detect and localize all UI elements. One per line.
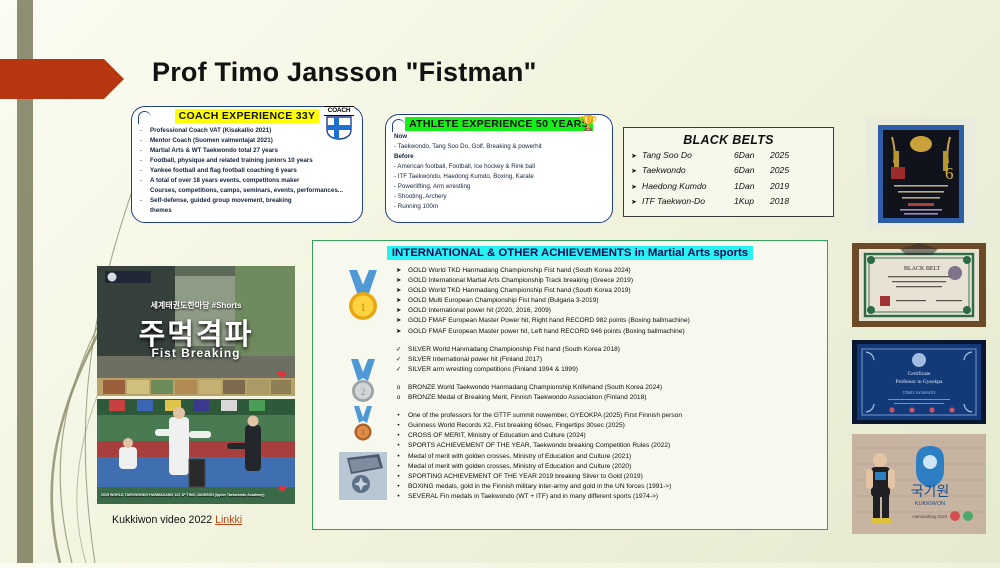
table-row: ➤ Haedong Kumdo 1Dan 2019 (624, 180, 833, 194)
group-spacer (395, 337, 821, 345)
table-row: ➤ Tang Soo Do 6Dan 2025 (624, 149, 833, 163)
list-item: ➤GOLD World TKD Hanmadang Championship F… (395, 286, 821, 296)
athlete-experience-list: Now - Taekwondo, Tang Soo Do, Golf, Brea… (394, 132, 606, 212)
achievements-list: ➤GOLD World TKD Hanmadang Championship F… (395, 266, 821, 502)
kukkiwon-overlay-caption: 2015 WORLD TAEKWONDO HANMADANG 122 1P TI… (101, 493, 265, 498)
list-item: - Shooting, Archery (394, 192, 606, 202)
list-item-continuation: themes (140, 206, 356, 216)
list-item: •CROSS OF MERIT, Ministry of Education a… (395, 431, 821, 441)
gym-caption: Hanmadang 2024 (913, 514, 948, 519)
list-item: oBRONZE Medal of Breaking Merit, Finnish… (395, 393, 821, 403)
black-belts-title: BLACK BELTS (624, 133, 833, 147)
coach-experience-box: COACH EXPERIENCE 33Y COACH -Professional… (131, 106, 363, 223)
heart-icon: ❤ (277, 368, 287, 382)
table-row: ➤ ITF Taekwon-Do 1Kup 2018 (624, 195, 833, 209)
kukkiwon-breaking-photo[interactable]: 2015 WORLD TAEKWONDO HANMADANG 122 1P TI… (97, 399, 295, 504)
list-item: ✓SILVER arm wrestling competitions (Finl… (395, 365, 821, 375)
list-item: - American football, Football, Ice hocke… (394, 162, 606, 172)
decorative-arrow-banner (0, 59, 124, 99)
video-thumb-subtitle: 세계태권도한마당 #Shorts (97, 300, 295, 311)
cert-line1: Certificate (908, 370, 931, 377)
list-item: - ITF Taekwondo, Haedong Kumdo, Boxing, … (394, 172, 606, 182)
black-belts-box: BLACK BELTS ➤ Tang Soo Do 6Dan 2025 ➤ Ta… (623, 127, 834, 217)
arrow-bullet-icon: ➤ (624, 166, 642, 178)
list-item: oBRONZE World Taekwondo Hanmadang Champi… (395, 383, 821, 393)
group-spacer (395, 375, 821, 383)
list-item: -Football, physique and related training… (140, 156, 356, 166)
list-item: •SPORTS ACHIEVEMENT OF THE YEAR, Taekwon… (395, 441, 821, 451)
list-item: ➤GOLD International Martial Arts Champio… (395, 276, 821, 286)
plaque-badge-number: 6 (945, 164, 954, 183)
list-item: -Martial Arts & WT Taekwondo total 27 ye… (140, 146, 356, 156)
list-item: ➤GOLD Multi European Championship Fist h… (395, 296, 821, 306)
list-item: •Medal of merit with golden crosses, Min… (395, 462, 821, 472)
before-label: Before (394, 152, 606, 162)
list-item-continuation: Courses, competitions, camps, seminars, … (140, 186, 356, 196)
list-item: -Mentor Coach (Suomen valmentajat 2021) (140, 136, 356, 146)
black-belt-certificate-photo: BLACK BELT (852, 243, 986, 327)
korean-award-plaque-photo: 6 (866, 117, 976, 230)
list-item: •BOXING medals, gold in the Finnish mili… (395, 482, 821, 492)
coach-crest-label: COACH (324, 106, 354, 116)
list-item: •Guinness World Records X2, Fist breakin… (395, 421, 821, 431)
list-item: ➤GOLD FMAF European Master power hit, Le… (395, 327, 821, 337)
list-item: -Professional Coach VAT (Kisakallio 2021… (140, 126, 356, 136)
video-caption: Kukkiwon video 2022 Linkki (112, 514, 242, 526)
coach-experience-list: -Professional Coach VAT (Kisakallio 2021… (140, 126, 356, 216)
list-item: - Powerlifting, Arm wrestling (394, 182, 606, 192)
page-title: Prof Timo Jansson "Fistman" (152, 57, 537, 88)
list-item: ➤GOLD World TKD Hanmadang Championship F… (395, 266, 821, 276)
gold-medal-icon: 1 (343, 270, 383, 327)
list-item: ✓SILVER World Hanmadang Championship Fis… (395, 345, 821, 355)
gym-sign-korean: 국기원 (911, 484, 950, 500)
gym-sign-latin: KUKKIWON (915, 501, 945, 507)
list-item: -A total of over 18 years events, compet… (140, 176, 356, 186)
arrow-bullet-icon: ➤ (624, 182, 642, 194)
professor-certificate-photo: Certificate Professor in Gyeokpa TIMO JA… (852, 340, 986, 424)
list-item: ✓SILVER International power hit (Finland… (395, 355, 821, 365)
achievements-title: INTERNATIONAL & OTHER ACHIEVEMENTS in Ma… (313, 247, 827, 259)
fist-breaking-video-thumbnail[interactable]: 세계태권도한마당 #Shorts 주먹격파 Fist Breaking ❤ (97, 266, 295, 396)
bronze-medal-icon: 3 (343, 406, 383, 451)
video-caption-text: Kukkiwon video 2022 (112, 514, 215, 526)
achievements-panel: INTERNATIONAL & OTHER ACHIEVEMENTS in Ma… (312, 240, 828, 530)
silver-medal-icon: 2 (343, 359, 383, 410)
table-row: ➤ Taekwondo 6Dan 2025 (624, 164, 833, 178)
svg-text:3: 3 (361, 429, 365, 437)
list-item: ➤GOLD FMAF European Master Power hit, Ri… (395, 316, 821, 326)
cert-heading: BLACK BELT (904, 266, 941, 272)
trophy-icon: 🏆 (579, 116, 598, 131)
list-item: ➤GOLD International power hit (2020, 201… (395, 306, 821, 316)
arrow-bullet-icon: ➤ (624, 151, 642, 163)
svg-text:1: 1 (360, 300, 366, 314)
now-label: Now (394, 132, 606, 142)
list-item: -Yankee football and flag football coach… (140, 166, 356, 176)
list-item: - Taekwondo, Tang Soo Do, Golf, Breaking… (394, 142, 606, 152)
athlete-box-title: ATHLETE EXPERIENCE 50 YEARS (386, 118, 612, 130)
arrow-bullet-icon: ➤ (624, 197, 642, 209)
video-link[interactable]: Linkki (215, 514, 242, 526)
video-thumb-title-english: Fist Breaking (97, 346, 295, 360)
list-item: -Self-defense, guided group movement, br… (140, 196, 356, 206)
svg-text:2: 2 (361, 387, 366, 397)
cert-line3: TIMO JANSSON (902, 390, 936, 395)
cert-line2: Professor in Gyeokpa (896, 378, 943, 385)
heart-icon: ❤ (278, 483, 287, 496)
list-item: •SPORTING ACHIEVEMENT OF THE YEAR 2019 b… (395, 472, 821, 482)
cross-of-merit-photo (339, 452, 379, 505)
kukkiwon-gym-photo: 국기원 KUKKIWON Hanmadang 2024 (852, 434, 986, 534)
group-spacer (395, 403, 821, 411)
list-item: - Running 100m (394, 202, 606, 212)
athlete-experience-box: ATHLETE EXPERIENCE 50 YEARS 🏆 Now - Taek… (385, 114, 613, 223)
list-item: •SEVERAL Fin medals in Taekwondo (WT + I… (395, 492, 821, 502)
list-item: •One of the professors for the GTTF summ… (395, 411, 821, 421)
list-item: •Medal of merit with golden crosses, Min… (395, 452, 821, 462)
